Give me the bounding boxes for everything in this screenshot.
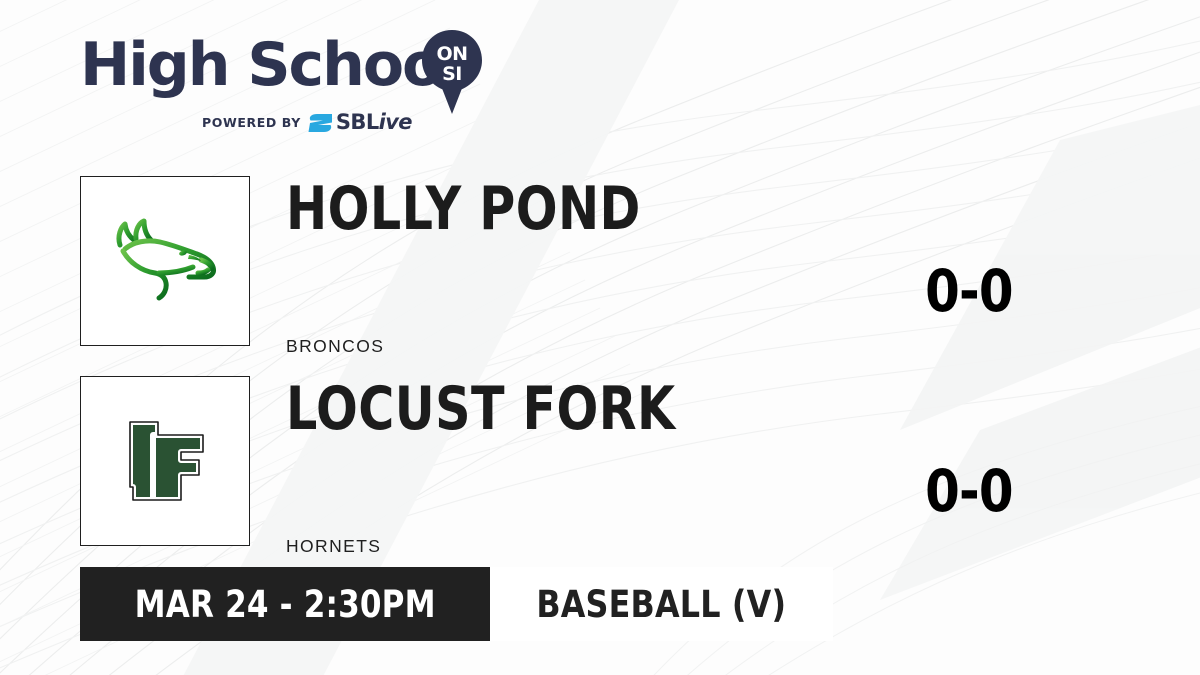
brand-wordmark: High School [80, 34, 460, 96]
powered-by-lockup: POWERED BY SBLive [202, 112, 412, 133]
on-si-pin-icon: ON SI [418, 28, 486, 116]
matchup-graphic: High School ON SI POWERED BY SBLive [0, 0, 1200, 675]
team-record: 0-0 [925, 462, 1013, 520]
sblive-bold-part: SBL [336, 110, 379, 134]
sblive-swoosh-icon [308, 113, 334, 133]
svg-text:SI: SI [442, 63, 462, 85]
game-datetime-badge: MAR 24 - 2:30PM [80, 567, 490, 641]
team-record: 0-0 [925, 262, 1013, 320]
game-sport-badge: BASEBALL (V) [490, 567, 833, 641]
sblive-italic-part: ive [379, 110, 412, 134]
lf-monogram-icon [111, 407, 219, 515]
sblive-logo: SBLive [308, 112, 412, 133]
game-datetime-text: MAR 24 - 2:30PM [135, 586, 436, 623]
team-mascot: BRONCOS [286, 336, 384, 357]
team-logo-box [80, 176, 250, 346]
team-name: HOLLY POND [286, 179, 641, 239]
game-info-bar: MAR 24 - 2:30PM BASEBALL (V) [80, 567, 833, 641]
game-sport-text: BASEBALL (V) [537, 586, 787, 623]
sblive-wordmark: SBLive [336, 112, 412, 133]
bronco-head-icon [103, 215, 227, 307]
team-logo-box [80, 376, 250, 546]
brand-logo: High School ON SI POWERED BY SBLive [80, 34, 510, 134]
team-name: LOCUST FORK [286, 379, 676, 439]
powered-by-label: POWERED BY [202, 115, 301, 130]
team-mascot: HORNETS [286, 536, 381, 557]
svg-text:ON: ON [436, 43, 467, 65]
